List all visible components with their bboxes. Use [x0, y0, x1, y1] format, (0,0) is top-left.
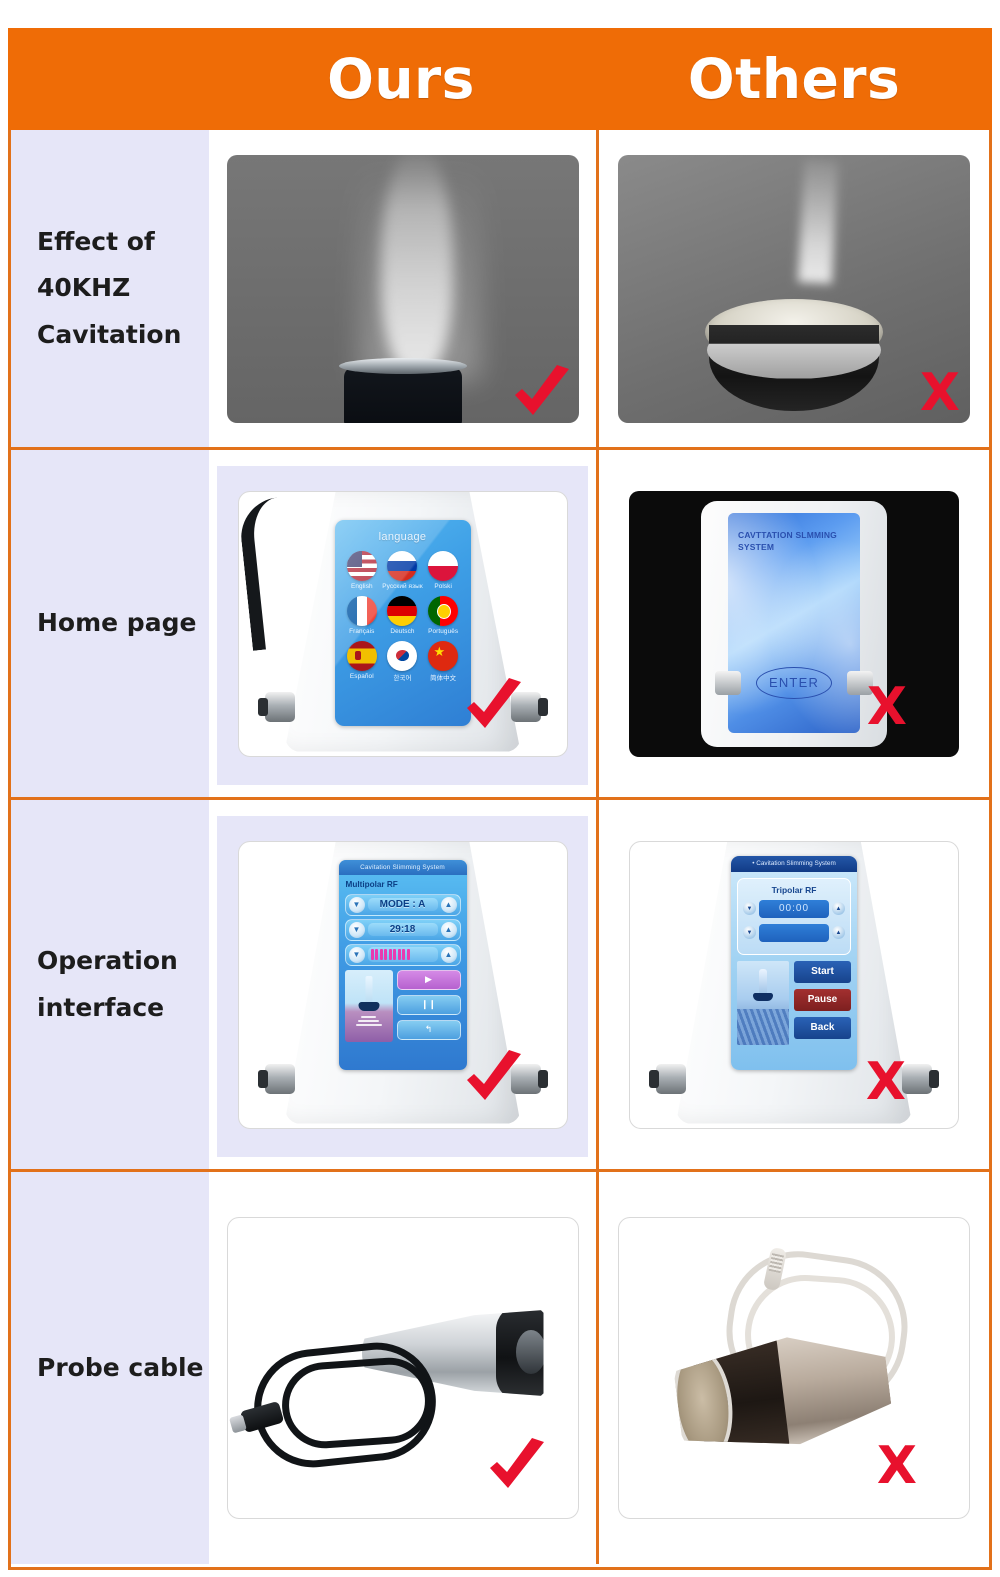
- probe-head: [496, 1304, 550, 1402]
- row-label-line: Cavitation: [37, 312, 181, 358]
- mode-stepper: ▼ MODE : A ▲: [345, 894, 461, 916]
- tissue-illustration: [737, 1009, 789, 1044]
- timer-decrease-button[interactable]: ▼: [743, 902, 756, 915]
- connector-port-left: [715, 671, 741, 695]
- machine-body: CAVTTATION SLMMING SYSTEM ENTER: [701, 501, 887, 747]
- cross-mark-icon: X: [877, 1440, 917, 1492]
- row-label-operation-interface: Operation interface: [11, 800, 209, 1169]
- language-label: 한국어: [382, 673, 423, 682]
- black-cable: [238, 495, 315, 651]
- comparison-page: Ours Others Effect of 40KHZ Cavitation: [0, 0, 1000, 1577]
- row-label-line: Probe cable: [37, 1345, 204, 1391]
- mist-plume: [798, 159, 838, 284]
- row-label-home-page: Home page: [11, 450, 209, 797]
- photo-ours-home-screen: language English Русский язык: [238, 491, 568, 757]
- flag-cn-icon: [428, 641, 458, 671]
- language-option-russian[interactable]: Русский язык: [382, 551, 423, 590]
- language-option-german[interactable]: Deutsch: [382, 596, 423, 635]
- timer-stepper: ▼ 29:18 ▲: [345, 919, 461, 941]
- cell-ours-home-page: language English Русский язык: [209, 450, 599, 797]
- language-label: Polski: [423, 583, 464, 590]
- cable-loop-inner: [279, 1355, 435, 1451]
- screen-title-bar: • Cavitation Slimming System: [731, 856, 857, 872]
- cell-others-home-page: CAVTTATION SLMMING SYSTEM ENTER X: [599, 450, 989, 797]
- flag-pl-icon: [428, 551, 458, 581]
- comparison-header: Ours Others: [8, 28, 992, 130]
- operation-screen[interactable]: Cavitation Slimming System Multipolar RF…: [339, 860, 467, 1070]
- mode-title: Tripolar RF: [743, 885, 845, 895]
- pause-button[interactable]: ❙❙: [397, 995, 461, 1015]
- timer-stepper: ▼ 00:00 ▲: [743, 900, 845, 918]
- probe-tip: [344, 367, 462, 423]
- timer-increase-button[interactable]: ▲: [441, 922, 457, 938]
- header-ours: Ours: [206, 47, 596, 111]
- intensity-increase-button[interactable]: ▲: [441, 947, 457, 963]
- table-row: Operation interface Cavitation Slimming …: [11, 800, 989, 1172]
- enter-button[interactable]: ENTER: [756, 667, 832, 699]
- operation-screen[interactable]: • Cavitation Slimming System Tripolar RF…: [731, 856, 857, 1070]
- photo-others-operation-screen: • Cavitation Slimming System Tripolar RF…: [629, 841, 959, 1129]
- photo-others-cavitation-mist: X: [618, 155, 970, 423]
- connector-port-right: [847, 671, 873, 695]
- cell-ours-probe-cable: [209, 1172, 599, 1564]
- row-label-line: interface: [37, 985, 178, 1031]
- flag-fr-icon: [347, 596, 377, 626]
- operation-bottom-area: ▶ ❙❙ ↰: [345, 970, 461, 1042]
- cell-others-cavitation: X: [599, 130, 989, 447]
- table-row: Probe cable: [11, 1172, 989, 1564]
- language-label: Español: [342, 673, 383, 680]
- connector-port-right: [902, 1064, 932, 1094]
- mode-increase-button[interactable]: ▲: [441, 897, 457, 913]
- row-label-line: Operation: [37, 938, 178, 984]
- photo-ours-probe-cable: [227, 1217, 579, 1519]
- connector-port-left: [656, 1064, 686, 1094]
- start-button[interactable]: Start: [794, 961, 851, 983]
- header-others: Others: [596, 47, 992, 111]
- row-label-line: Home page: [37, 600, 196, 646]
- mist-column: [381, 155, 453, 375]
- intensity-decrease-button[interactable]: ▼: [349, 947, 365, 963]
- flag-us-icon: [347, 551, 377, 581]
- treatment-illustration: [737, 961, 789, 1045]
- connector-port-left: [265, 692, 295, 722]
- back-button[interactable]: Back: [794, 1017, 851, 1039]
- screen-title-bar: Cavitation Slimming System: [339, 860, 467, 875]
- mode-decrease-button[interactable]: ▼: [349, 897, 365, 913]
- language-option-korean[interactable]: 한국어: [382, 641, 423, 682]
- language-screen[interactable]: language English Русский язык: [335, 520, 471, 726]
- language-option-french[interactable]: Français: [342, 596, 383, 635]
- language-screen-title: language: [335, 531, 471, 543]
- row-label-probe-cable: Probe cable: [11, 1172, 209, 1564]
- connector-port-right: [511, 692, 541, 722]
- language-label: 简体中文: [423, 673, 464, 682]
- intensity-increase-button[interactable]: ▲: [832, 926, 845, 939]
- row-label-line: 40KHZ: [37, 265, 181, 311]
- intensity-value: [759, 924, 829, 942]
- pause-button[interactable]: Pause: [794, 989, 851, 1011]
- cross-mark-icon: X: [920, 367, 960, 419]
- probe-illustration-icon: [365, 976, 372, 1004]
- language-option-english[interactable]: English: [342, 551, 383, 590]
- back-button[interactable]: ↰: [397, 1020, 461, 1040]
- others-screen-title: CAVTTATION SLMMING SYSTEM: [738, 529, 852, 555]
- timer-value: 29:18: [368, 923, 438, 936]
- mode-title: Multipolar RF: [339, 875, 467, 891]
- check-mark-icon: [484, 1438, 548, 1494]
- timer-value: 00:00: [759, 900, 829, 918]
- language-label: Русский язык: [382, 583, 423, 590]
- control-buttons: Start Pause Back: [794, 961, 851, 1045]
- language-label: Français: [342, 628, 383, 635]
- probe-illustration-icon: [759, 969, 767, 995]
- mode-value: MODE : A: [368, 898, 438, 911]
- cell-others-probe-cable: X: [599, 1172, 989, 1564]
- language-option-spanish[interactable]: Español: [342, 641, 383, 682]
- treatment-illustration: [345, 970, 393, 1042]
- table-row: Effect of 40KHZ Cavitation: [11, 130, 989, 450]
- language-option-polish[interactable]: Polski: [423, 551, 464, 590]
- timer-increase-button[interactable]: ▲: [832, 902, 845, 915]
- operation-bottom-area: Start Pause Back: [737, 961, 851, 1045]
- photo-others-probe-cable: X: [618, 1217, 970, 1519]
- language-label: English: [342, 583, 383, 590]
- control-buttons: ▶ ❙❙ ↰: [397, 970, 461, 1042]
- language-label: Português: [423, 628, 464, 635]
- check-mark-icon: [509, 365, 573, 421]
- cell-others-operation-interface: • Cavitation Slimming System Tripolar RF…: [599, 800, 989, 1169]
- wave-lines-icon: [356, 1014, 382, 1028]
- flat-probe-head: [705, 299, 883, 417]
- intensity-bars: [368, 947, 438, 962]
- flag-de-icon: [387, 596, 417, 626]
- connector-port-right: [511, 1064, 541, 1094]
- cell-ours-operation-interface: Cavitation Slimming System Multipolar RF…: [209, 800, 599, 1169]
- timer-decrease-button[interactable]: ▼: [349, 922, 365, 938]
- intensity-decrease-button[interactable]: ▼: [743, 926, 756, 939]
- language-label: Deutsch: [382, 628, 423, 635]
- cell-ours-cavitation: [209, 130, 599, 447]
- flag-pt-icon: [428, 596, 458, 626]
- table-row: Home page language English: [11, 450, 989, 800]
- language-option-chinese[interactable]: 简体中文: [423, 641, 464, 682]
- row-label-line: Effect of: [37, 219, 181, 265]
- play-button[interactable]: ▶: [397, 970, 461, 990]
- photo-ours-operation-screen: Cavitation Slimming System Multipolar RF…: [238, 841, 568, 1129]
- language-option-portuguese[interactable]: Português: [423, 596, 464, 635]
- photo-ours-cavitation-mist: [227, 155, 579, 423]
- comparison-table: Effect of 40KHZ Cavitation: [8, 130, 992, 1570]
- flag-es-icon: [347, 641, 377, 671]
- intensity-stepper: ▼ ▲: [345, 944, 461, 966]
- others-home-screen[interactable]: CAVTTATION SLMMING SYSTEM ENTER: [728, 513, 860, 733]
- intensity-stepper: ▼ ▲: [743, 924, 845, 942]
- connector-port-left: [265, 1064, 295, 1094]
- photo-others-home-screen: CAVTTATION SLMMING SYSTEM ENTER X: [629, 491, 959, 757]
- settings-panel: Tripolar RF ▼ 00:00 ▲ ▼ ▲: [737, 878, 851, 955]
- row-label-cavitation: Effect of 40KHZ Cavitation: [11, 130, 209, 447]
- flag-kr-icon: [387, 641, 417, 671]
- flag-ru-icon: [387, 551, 417, 581]
- language-grid: English Русский язык Polski: [335, 543, 471, 682]
